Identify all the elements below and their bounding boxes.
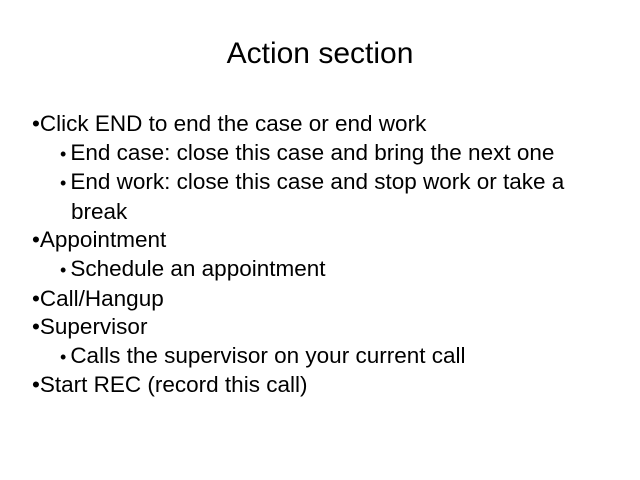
bullet-item-level-2: •End case: close this case and bring the… (45, 139, 618, 169)
bullet-item-label: End work: close this case and stop work … (70, 169, 564, 224)
bullet-item-level-1: •Appointment (32, 226, 618, 255)
bullet-dot-icon: • (32, 286, 40, 311)
bullet-item-label: Appointment (40, 227, 166, 252)
bullet-item-level-2: •End work: close this case and stop work… (45, 168, 618, 226)
presentation-slide: Action section •Click END to end the cas… (0, 0, 640, 480)
bullet-item-level-2: •Calls the supervisor on your current ca… (45, 342, 618, 372)
bullet-dot-icon: • (60, 173, 66, 193)
bullet-item-level-1: •Start REC (record this call) (32, 371, 618, 400)
bullet-dot-icon: • (32, 372, 40, 397)
bullet-item-label: End case: close this case and bring the … (70, 140, 554, 165)
bullet-item-label: Schedule an appointment (70, 256, 325, 281)
bullet-dot-icon: • (32, 111, 40, 136)
bullet-item-label: Click END to end the case or end work (40, 111, 426, 136)
bullet-item-level-1: •Click END to end the case or end work (32, 110, 618, 139)
bullet-item-label: Call/Hangup (40, 286, 164, 311)
slide-body-content: •Click END to end the case or end work•E… (30, 110, 618, 400)
bullet-dot-icon: • (32, 227, 40, 252)
bullet-item-label: Start REC (record this call) (40, 372, 308, 397)
bullet-item-level-1: •Call/Hangup (32, 285, 618, 314)
bullet-dot-icon: • (60, 144, 66, 164)
bullet-dot-icon: • (32, 314, 40, 339)
bullet-dot-icon: • (60, 347, 66, 367)
bullet-item-label: Calls the supervisor on your current cal… (70, 343, 465, 368)
page-title: Action section (0, 36, 640, 72)
bullet-item-level-1: •Supervisor (32, 313, 618, 342)
bullet-item-label: Supervisor (40, 314, 148, 339)
bullet-dot-icon: • (60, 260, 66, 280)
bullet-item-level-2: •Schedule an appointment (45, 255, 618, 285)
